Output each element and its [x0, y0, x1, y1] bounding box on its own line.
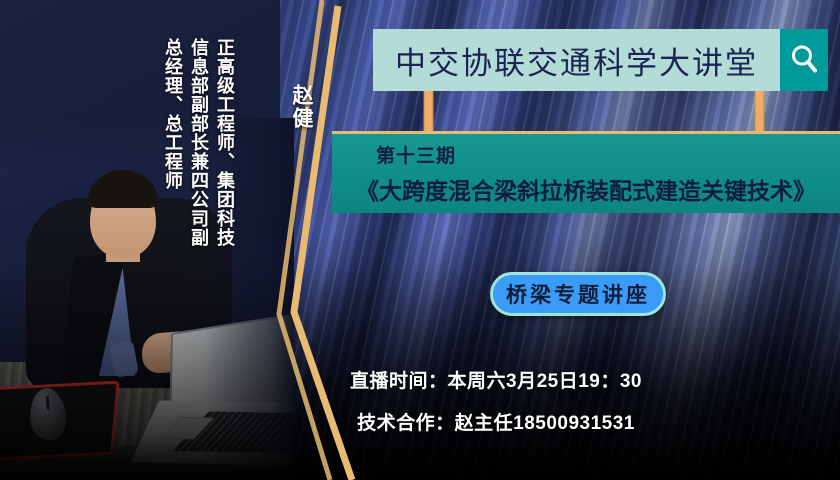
- speaker-credential-line-2: 信息部副部长兼四公司副: [186, 38, 212, 247]
- search-button[interactable]: [780, 29, 828, 91]
- topic-badge[interactable]: 桥梁专题讲座: [490, 272, 666, 316]
- header-title: 中交协联交通科学大讲堂: [395, 38, 758, 83]
- contact-text: 技术合作：赵主任18500931531: [0, 408, 840, 435]
- speaker-name: 赵健: [286, 84, 316, 130]
- topic-badge-label: 桥梁专题讲座: [506, 279, 650, 309]
- lecture-title-text: 《大跨度混合梁斜拉桥装配式建造关键技术》: [332, 172, 840, 206]
- live-time-text: 直播时间：本周六3月25日19：30: [0, 366, 840, 393]
- live-stream-poster: 中交协联交通科学大讲堂 第十三期 《大跨度混合梁斜拉桥装配式建造关键技术》 赵健…: [0, 0, 840, 480]
- speaker-credential-line-1: 正高级工程师、集团科技: [212, 38, 238, 247]
- issue-number-label: 第十三期: [376, 141, 840, 168]
- lecture-hall-header-bar: 中交协联交通科学大讲堂: [373, 29, 780, 91]
- lecture-title-banner: 第十三期 《大跨度混合梁斜拉桥装配式建造关键技术》: [332, 131, 840, 213]
- speaker-credential-line-3: 总经理、总工程师: [160, 38, 186, 190]
- search-icon: [789, 43, 819, 77]
